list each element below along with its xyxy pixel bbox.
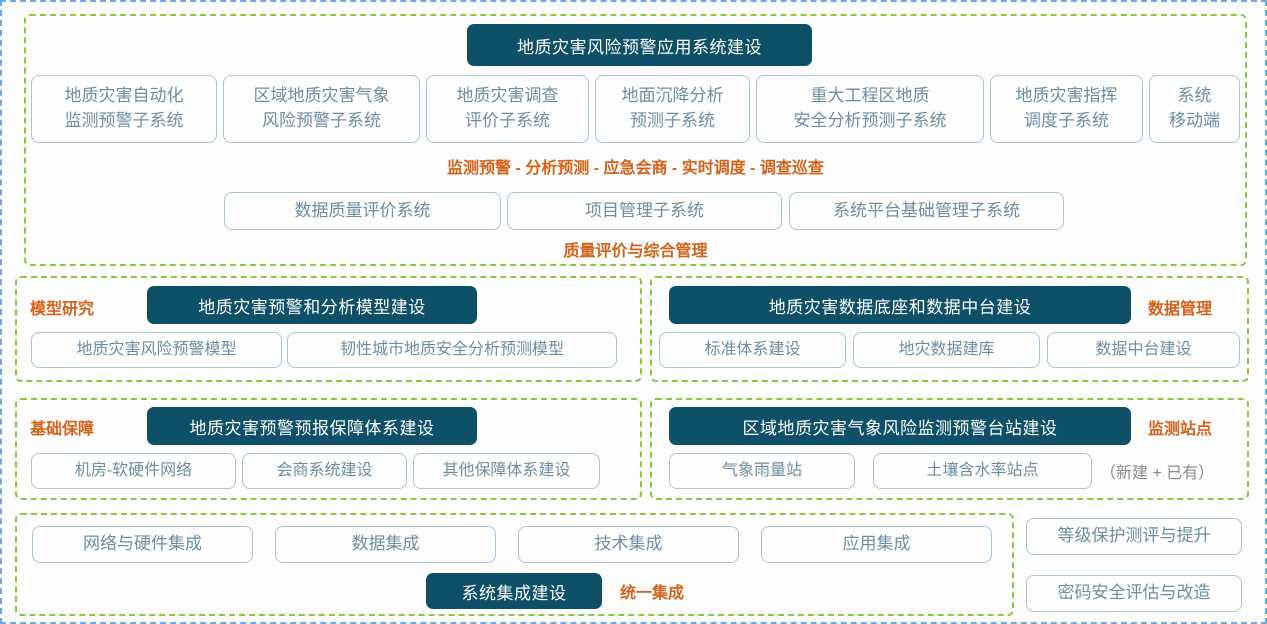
model-research-label: 模型研究 <box>30 290 130 324</box>
integration-box-0[interactable]: 网络与硬件集成 <box>32 526 253 563</box>
integration-box-2[interactable]: 技术集成 <box>518 526 739 563</box>
management-box-2[interactable]: 系统平台基础管理子系统 <box>789 192 1064 230</box>
security-box-1[interactable]: 密码安全评估与改造 <box>1026 575 1242 612</box>
data-management-label: 数据管理 <box>1148 290 1243 324</box>
header-pill-monitoring-stations[interactable]: 区域地质灾害气象风险监测预警台站建设 <box>669 407 1131 445</box>
integration-label: 统一集成 <box>620 573 720 609</box>
subsystem-box-3[interactable]: 地面沉降分析 预测子系统 <box>595 75 750 143</box>
header-pill-infrastructure[interactable]: 地质灾害预警预报保障体系建设 <box>147 407 477 445</box>
data-management-box-0[interactable]: 标准体系建设 <box>659 332 846 368</box>
subsystem-box-4[interactable]: 重大工程区地质 安全分析预测子系统 <box>756 75 984 143</box>
subsystem-box-6[interactable]: 系统 移动端 <box>1149 75 1240 143</box>
diagram-canvas: 地质灾害风险预警应用系统建设 地质灾害自动化 监测预警子系统 区域地质灾害气象 … <box>0 0 1267 624</box>
monitoring-stations-box-1[interactable]: 土壤含水率站点 <box>873 453 1092 489</box>
subsystem-box-0[interactable]: 地质灾害自动化 监测预警子系统 <box>31 75 217 143</box>
data-management-box-2[interactable]: 数据中台建设 <box>1047 332 1240 368</box>
model-research-box-0[interactable]: 地质灾害风险预警模型 <box>31 332 282 368</box>
infrastructure-box-2[interactable]: 其他保障体系建设 <box>413 453 600 489</box>
monitoring-stations-box-0[interactable]: 气象雨量站 <box>669 453 855 489</box>
infrastructure-box-1[interactable]: 会商系统建设 <box>242 453 407 489</box>
integration-box-1[interactable]: 数据集成 <box>275 526 496 563</box>
management-caption: 质量评价与综合管理 <box>24 238 1247 260</box>
security-box-0[interactable]: 等级保护测评与提升 <box>1026 518 1242 555</box>
integration-box-3[interactable]: 应用集成 <box>761 526 992 563</box>
application-caption: 监测预警 - 分析预测 - 应急会商 - 实时调度 - 调查巡查 <box>24 154 1247 178</box>
management-box-1[interactable]: 项目管理子系统 <box>507 192 782 230</box>
header-pill-application-system[interactable]: 地质灾害风险预警应用系统建设 <box>467 24 812 66</box>
header-pill-model-research[interactable]: 地质灾害预警和分析模型建设 <box>147 286 477 324</box>
infrastructure-box-0[interactable]: 机房-软硬件网络 <box>31 453 236 489</box>
subsystem-box-1[interactable]: 区域地质灾害气象 风险预警子系统 <box>223 75 420 143</box>
data-management-box-1[interactable]: 地灾数据建库 <box>853 332 1040 368</box>
subsystem-box-5[interactable]: 地质灾害指挥 调度子系统 <box>990 75 1143 143</box>
monitoring-stations-note: （新建 + 已有） <box>1100 453 1250 489</box>
model-research-box-1[interactable]: 韧性城市地质安全分析预测模型 <box>287 332 617 368</box>
monitoring-stations-label: 监测站点 <box>1148 410 1243 444</box>
subsystem-box-2[interactable]: 地质灾害调查 评价子系统 <box>426 75 589 143</box>
management-box-0[interactable]: 数据质量评价系统 <box>224 192 501 230</box>
header-pill-data-management[interactable]: 地质灾害数据底座和数据中台建设 <box>669 286 1131 324</box>
infrastructure-label: 基础保障 <box>30 410 130 444</box>
header-pill-integration[interactable]: 系统集成建设 <box>426 573 602 609</box>
